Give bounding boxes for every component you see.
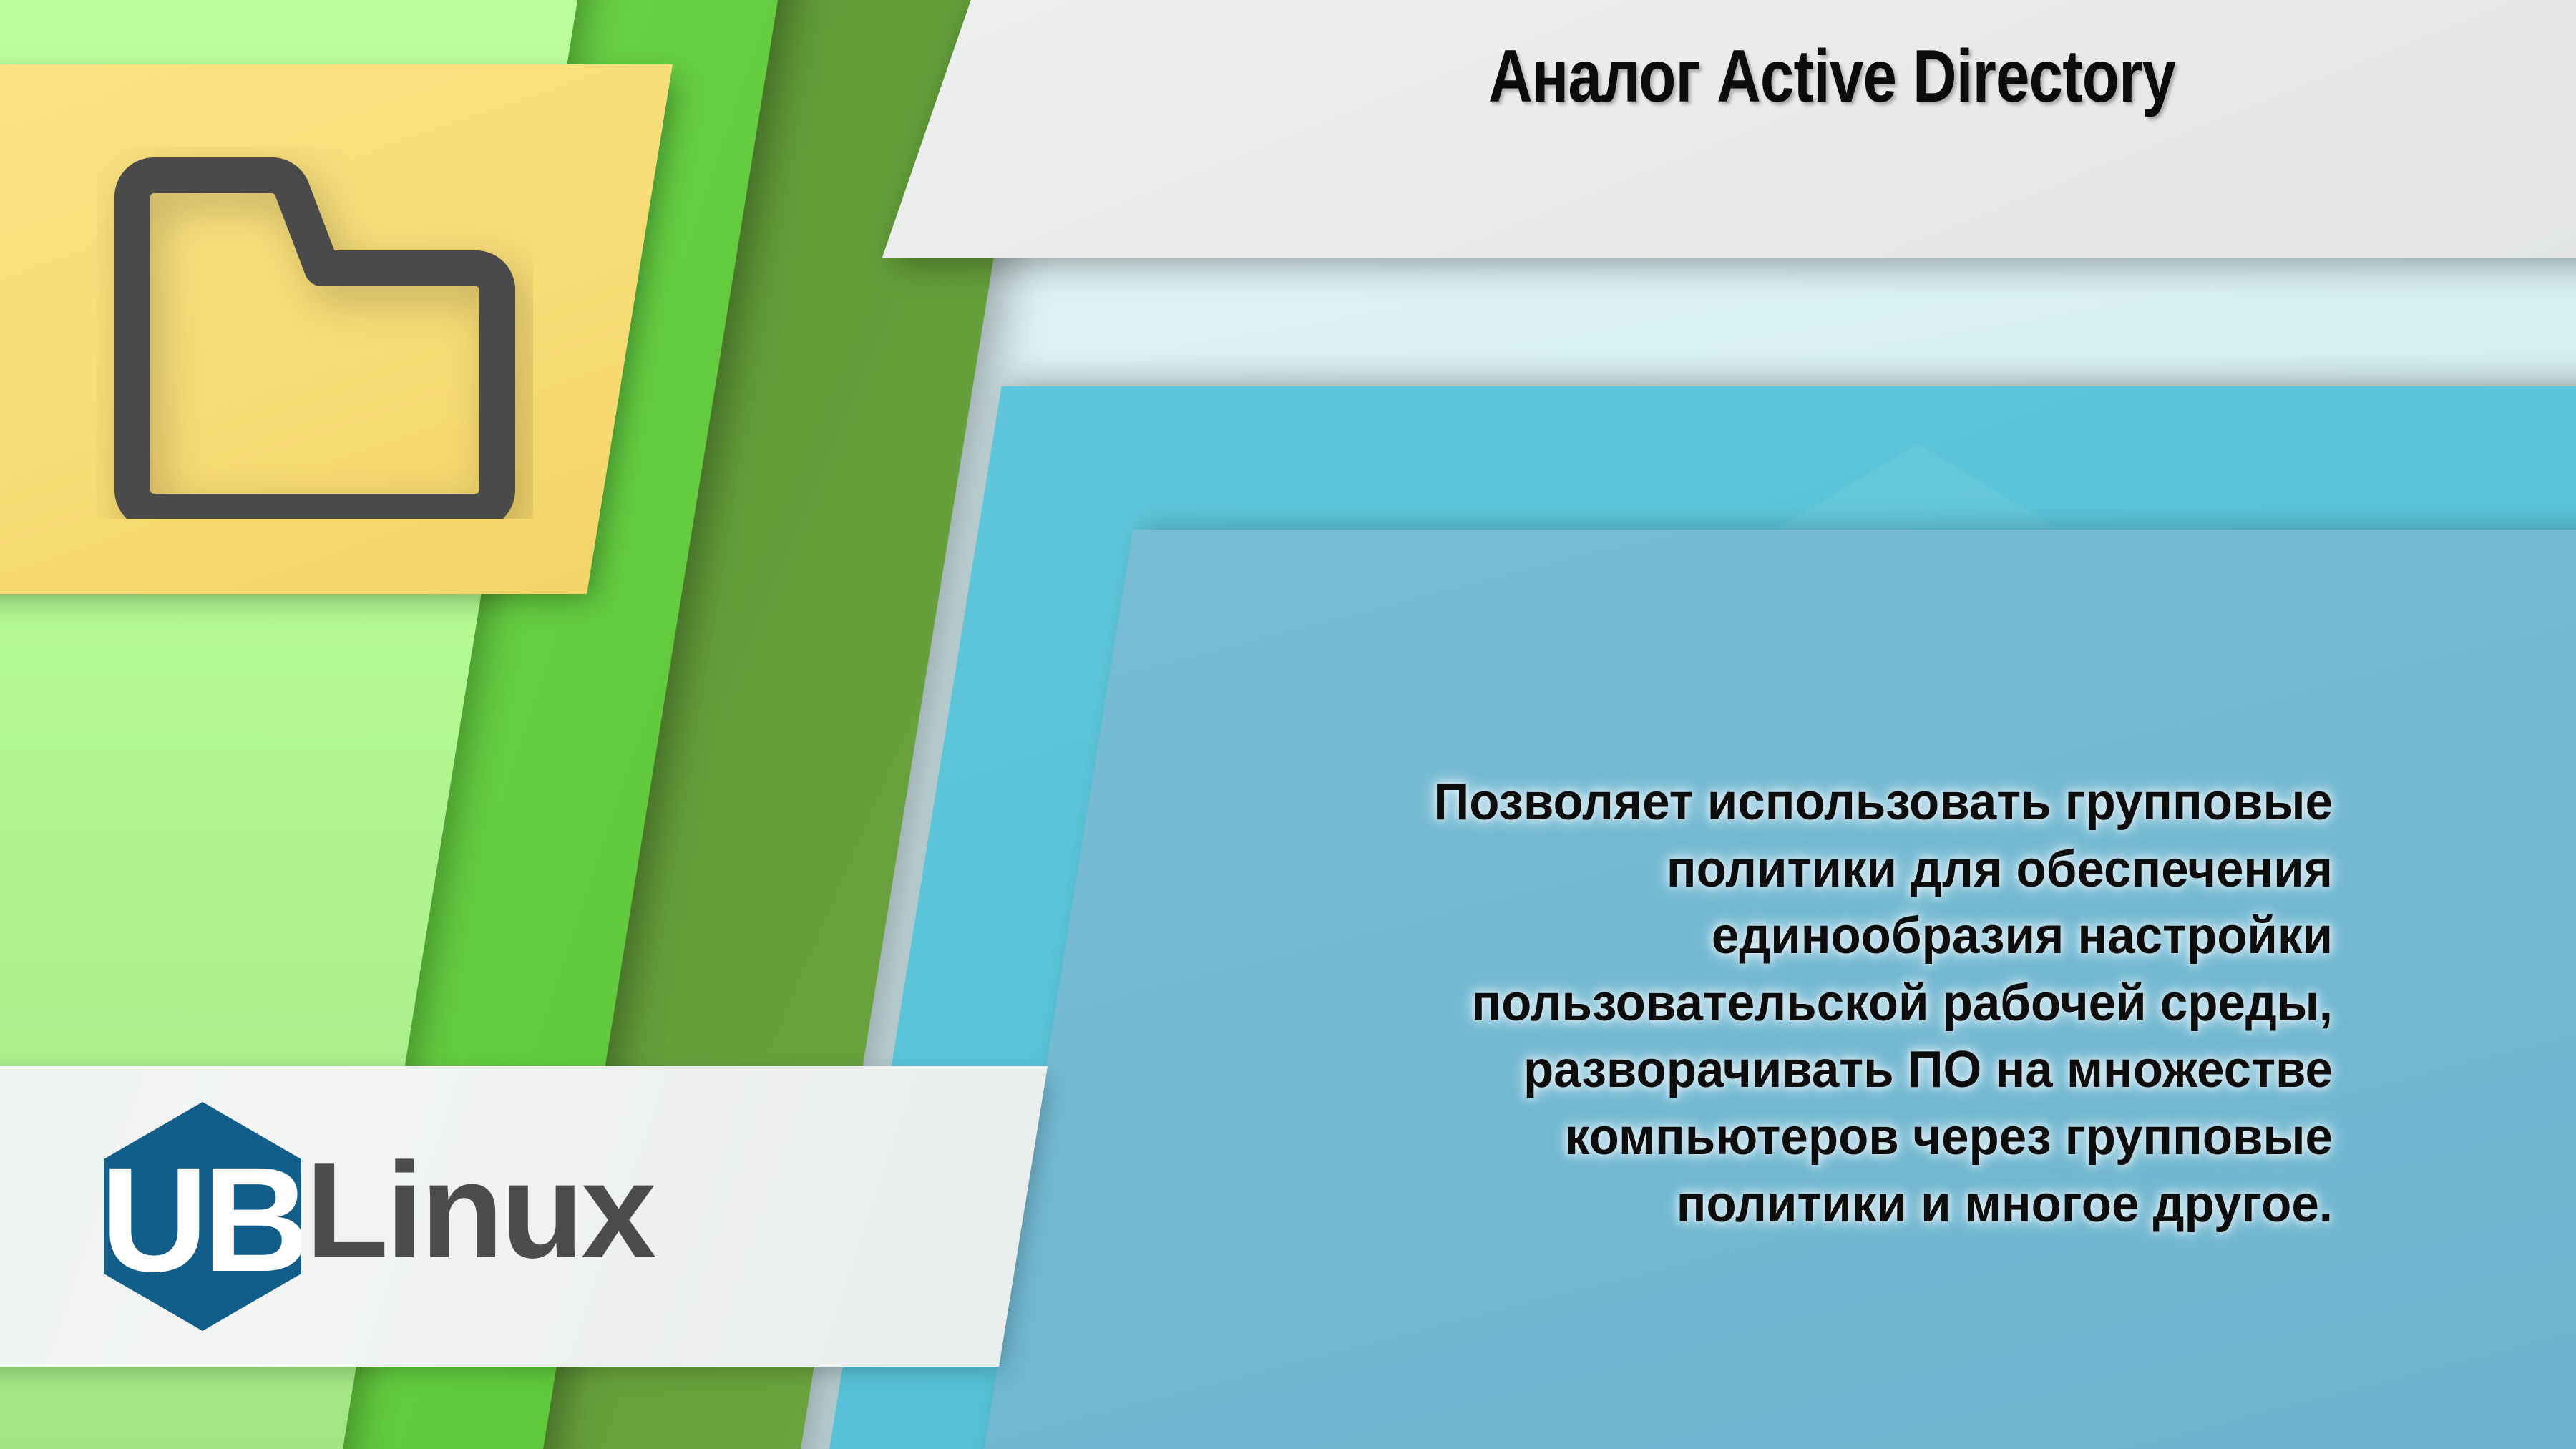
page-title: Аналог Active Directory (1292, 34, 2372, 119)
body-paragraph: Позволяет использовать групповые политик… (1350, 769, 2333, 1238)
body-line: политики и многое другое. (1350, 1171, 2333, 1239)
hexagon-icon: UB (104, 1102, 301, 1331)
body-line: разворачивать ПО на множестве (1350, 1037, 2333, 1104)
body-line: политики для обеспечения (1350, 836, 2333, 904)
body-line: Позволяет использовать групповые (1350, 769, 2333, 836)
body-line: компьютеров через групповые (1350, 1104, 2333, 1171)
body-line: пользовательской рабочей среды, (1350, 970, 2333, 1038)
slide-canvas: Аналог Active Directory Позволяет исполь… (0, 0, 2576, 1449)
body-line: единообразия настройки (1350, 903, 2333, 970)
logo-mark-text: UB (104, 1137, 301, 1303)
folder-icon (97, 147, 533, 519)
logo-wordmark: Linux (306, 1143, 654, 1279)
brand-logo: UB Linux (104, 1102, 654, 1331)
